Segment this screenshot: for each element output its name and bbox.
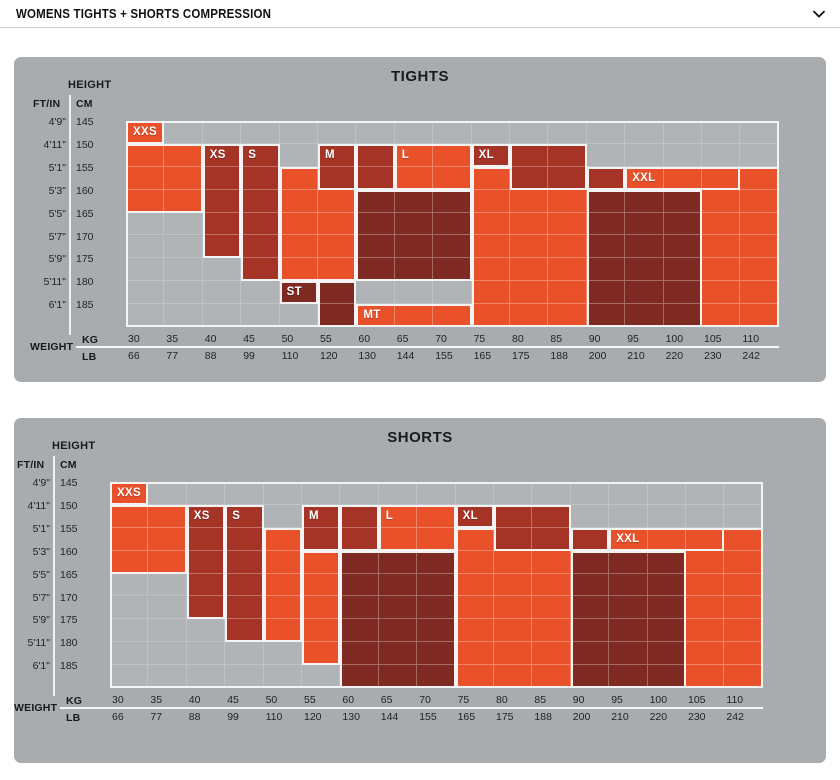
tights-lb-tick: 77 [166, 351, 178, 362]
grid-cell [203, 304, 241, 327]
tights-lb-tick: 144 [397, 351, 415, 362]
zone-segment [318, 167, 356, 190]
shorts-lb-tick: 66 [112, 712, 124, 723]
zone-segment [395, 144, 433, 167]
grid-cell [241, 304, 279, 327]
tights-kg-tick: 65 [397, 334, 409, 345]
size-zone [318, 281, 356, 327]
zone-segment [417, 665, 455, 688]
zone-segment [264, 574, 302, 597]
zone-segment [510, 144, 548, 167]
tights-kg-tick: 95 [627, 334, 639, 345]
zone-segment [187, 528, 225, 551]
zone-segment [433, 167, 471, 190]
tights-ftin-tick: 5'3" [26, 186, 66, 197]
grid-cell [280, 304, 318, 327]
zone-segment [417, 505, 455, 528]
shorts-cm-tick: 160 [60, 547, 78, 558]
zone-segment [648, 574, 686, 597]
zone-segment [148, 528, 186, 551]
zone-segment [571, 619, 609, 642]
grid-cell [241, 121, 279, 144]
tights-kg-tick: 50 [282, 334, 294, 345]
tights-cm-header: CM [76, 98, 93, 110]
zone-segment [340, 551, 378, 574]
shorts-kg-tick: 85 [534, 695, 546, 706]
size-zone-s: S [225, 505, 263, 642]
tights-lb-tick: 155 [435, 351, 453, 362]
size-zone-l: L [379, 505, 456, 551]
shorts-lb-tick: 77 [150, 712, 162, 723]
size-zone [340, 551, 455, 688]
grid-cell [686, 505, 724, 528]
zone-segment [510, 235, 548, 258]
grid-cell [379, 482, 417, 505]
shorts-height-header: HEIGHT [52, 440, 95, 452]
grid-cell [724, 505, 762, 528]
zone-segment [164, 167, 202, 190]
zone-segment [664, 281, 702, 304]
size-label-s: S [248, 149, 256, 161]
zone-segment [702, 213, 740, 236]
shorts-ftin-tick: 5'7" [10, 593, 50, 604]
grid-cell [302, 665, 340, 688]
size-zone-xs: XS [187, 505, 225, 620]
zone-segment [472, 167, 510, 190]
zone-segment [340, 528, 378, 551]
zone-segment [510, 258, 548, 281]
zone-segment [740, 167, 778, 190]
zone-segment [433, 190, 471, 213]
accordion-title: WOMENS TIGHTS + SHORTS COMPRESSION [16, 7, 271, 21]
grid-cell [164, 258, 202, 281]
zone-segment [571, 642, 609, 665]
size-label-xl: XL [479, 149, 494, 161]
grid-cell [148, 619, 186, 642]
size-zone-xxs: XXS [126, 121, 164, 144]
tights-cm-tick: 150 [76, 140, 94, 151]
tights-lb-tick: 110 [282, 351, 299, 362]
zone-segment [494, 551, 532, 574]
zone-segment [625, 190, 663, 213]
zone-segment [241, 190, 279, 213]
shorts-ftin-tick: 4'9" [10, 478, 50, 489]
size-zone-m: M [302, 505, 340, 551]
tights-kg-tick: 90 [589, 334, 601, 345]
shorts-cm-tick: 175 [60, 615, 78, 626]
shorts-kg-tick: 90 [573, 695, 585, 706]
tights-kg-tick: 60 [358, 334, 370, 345]
tights-lb-tick: 165 [474, 351, 492, 362]
size-label-mt: MT [363, 309, 380, 321]
zone-segment [302, 574, 340, 597]
grid-cell [318, 121, 356, 144]
grid-cell [110, 619, 148, 642]
tights-cm-tick: 145 [76, 117, 94, 128]
zone-segment [302, 528, 340, 551]
zone-segment [340, 505, 378, 528]
zone-segment [356, 235, 394, 258]
size-zone [571, 528, 609, 551]
zone-segment [340, 619, 378, 642]
grid-cell [664, 144, 702, 167]
grid-cell [187, 642, 225, 665]
zone-segment [548, 144, 586, 167]
size-zone-xl: XL [456, 505, 494, 528]
grid-cell [110, 574, 148, 597]
zone-segment [686, 642, 724, 665]
shorts-ftin-header: FT/IN [17, 459, 44, 471]
size-zone [356, 144, 394, 190]
tights-ftin-tick: 5'1" [26, 163, 66, 174]
zone-segment [548, 258, 586, 281]
grid-cell [494, 482, 532, 505]
zone-segment [702, 304, 740, 327]
shorts-kg-tick: 95 [611, 695, 623, 706]
zone-segment [609, 665, 647, 688]
grid-cell [264, 642, 302, 665]
shorts-lb-tick: 155 [419, 712, 437, 723]
grid-cell [625, 144, 663, 167]
zone-segment [686, 528, 724, 551]
zone-segment [548, 235, 586, 258]
size-zone [340, 505, 378, 551]
shorts-lb-tick: 220 [650, 712, 668, 723]
zone-segment [510, 304, 548, 327]
zone-segment [648, 619, 686, 642]
tights-lb-tick: 66 [128, 351, 140, 362]
zone-segment [571, 596, 609, 619]
zone-segment [225, 574, 263, 597]
zone-segment [724, 642, 762, 665]
shorts-kg-tick: 100 [650, 695, 668, 706]
grid-cell [395, 121, 433, 144]
zone-segment [280, 167, 318, 190]
zone-segment [110, 551, 148, 574]
zone-segment [587, 213, 625, 236]
tights-kg-tick: 80 [512, 334, 524, 345]
tights-lb-tick: 88 [205, 351, 217, 362]
tights-kg-tick: 75 [474, 334, 486, 345]
shorts-weight-divider [60, 707, 763, 709]
shorts-lb-header: LB [66, 712, 80, 724]
shorts-kg-tick: 30 [112, 695, 124, 706]
zone-segment [472, 304, 510, 327]
zone-segment [686, 665, 724, 688]
zone-segment [379, 665, 417, 688]
zone-segment [433, 235, 471, 258]
zone-segment [395, 235, 433, 258]
zone-segment [664, 167, 702, 190]
grid-cell [164, 121, 202, 144]
grid-cell [241, 281, 279, 304]
tights-lb-header: LB [82, 351, 96, 363]
tights-lb-tick: 120 [320, 351, 338, 362]
zone-segment [587, 304, 625, 327]
zone-segment [571, 551, 609, 574]
zone-segment [379, 574, 417, 597]
zone-segment [433, 213, 471, 236]
zone-segment [187, 596, 225, 619]
size-zone-mt: MT [356, 304, 471, 327]
grid-cell [225, 642, 263, 665]
zone-segment [203, 167, 241, 190]
zone-segment [510, 190, 548, 213]
zone-segment [494, 665, 532, 688]
shorts-ftin-tick: 5'5" [10, 570, 50, 581]
zone-segment [724, 574, 762, 597]
size-label-l: L [402, 149, 409, 161]
zone-segment [625, 258, 663, 281]
zone-segment [702, 235, 740, 258]
shorts-cm-tick: 185 [60, 661, 78, 672]
zone-segment [702, 258, 740, 281]
tights-ftin-tick: 5'5" [26, 209, 66, 220]
grid-cell [625, 121, 663, 144]
zone-segment [395, 167, 433, 190]
zone-segment [625, 304, 663, 327]
zone-segment [548, 190, 586, 213]
zone-segment [379, 596, 417, 619]
size-zone-xxs: XXS [110, 482, 148, 505]
tights-chart-title: TIGHTS [14, 68, 826, 85]
grid-cell [740, 144, 778, 167]
zone-segment [379, 619, 417, 642]
zone-segment [318, 144, 356, 167]
zone-segment [356, 190, 394, 213]
grid-cell [548, 121, 586, 144]
zone-segment [280, 213, 318, 236]
zone-segment [456, 596, 494, 619]
zone-segment [724, 596, 762, 619]
shorts-kg-tick: 35 [150, 695, 162, 706]
tights-weight-divider [76, 346, 779, 348]
zone-segment [225, 551, 263, 574]
tights-kg-tick: 85 [550, 334, 562, 345]
zone-segment [510, 213, 548, 236]
zone-segment [164, 190, 202, 213]
shorts-kg-tick: 45 [227, 695, 239, 706]
zone-segment [302, 619, 340, 642]
shorts-kg-tick: 70 [419, 695, 431, 706]
zone-segment [702, 167, 740, 190]
zone-segment [433, 258, 471, 281]
shorts-chart-title: SHORTS [14, 429, 826, 446]
tights-weight-header: WEIGHT [30, 341, 73, 353]
zone-segment [280, 235, 318, 258]
grid-cell [609, 505, 647, 528]
zone-segment [686, 551, 724, 574]
zone-segment [625, 213, 663, 236]
grid-cell [148, 574, 186, 597]
grid-cell [164, 281, 202, 304]
zone-segment [225, 619, 263, 642]
zone-segment [648, 642, 686, 665]
grid-cell [356, 121, 394, 144]
shorts-lb-tick: 242 [726, 712, 744, 723]
grid-cell [686, 482, 724, 505]
shorts-kg-tick: 75 [458, 695, 470, 706]
zone-segment [340, 665, 378, 688]
shorts-lb-tick: 200 [573, 712, 591, 723]
zone-segment [587, 258, 625, 281]
tights-lb-tick: 220 [666, 351, 684, 362]
size-zone [494, 505, 571, 551]
tights-cm-tick: 160 [76, 186, 94, 197]
zone-segment [417, 574, 455, 597]
shorts-ftin-tick: 5'11" [10, 638, 50, 649]
zone-segment [203, 190, 241, 213]
zone-segment [532, 642, 570, 665]
size-zone-st: ST [280, 281, 318, 304]
zone-segment [472, 213, 510, 236]
zone-segment [225, 505, 263, 528]
shorts-kg-tick: 50 [266, 695, 278, 706]
zone-segment [148, 551, 186, 574]
zone-segment [724, 619, 762, 642]
shorts-kg-tick: 65 [381, 695, 393, 706]
zone-segment [740, 213, 778, 236]
zone-segment [417, 551, 455, 574]
grid-cell [587, 121, 625, 144]
grid-cell [302, 482, 340, 505]
zone-segment [379, 642, 417, 665]
grid-cell [702, 121, 740, 144]
zone-segment [164, 144, 202, 167]
grid-cell [356, 281, 394, 304]
shorts-lb-tick: 230 [688, 712, 706, 723]
accordion-header[interactable]: WOMENS TIGHTS + SHORTS COMPRESSION [0, 0, 840, 28]
zone-segment [510, 281, 548, 304]
tights-cm-tick: 155 [76, 163, 94, 174]
tights-cm-tick: 185 [76, 300, 94, 311]
zone-segment [648, 551, 686, 574]
zone-segment [740, 235, 778, 258]
grid-cell [702, 144, 740, 167]
zone-segment [203, 235, 241, 258]
zone-segment [664, 190, 702, 213]
grid-cell [126, 281, 164, 304]
zone-segment [571, 528, 609, 551]
tights-ftin-tick: 5'9" [26, 254, 66, 265]
grid-cell [164, 236, 202, 259]
grid-cell [587, 144, 625, 167]
zone-segment [472, 190, 510, 213]
zone-segment [494, 574, 532, 597]
zone-segment [318, 304, 356, 327]
grid-cell [571, 505, 609, 528]
size-zone [587, 190, 702, 327]
tights-ftin-tick: 5'11" [26, 277, 66, 288]
grid-cell [148, 665, 186, 688]
chevron-down-icon[interactable] [812, 7, 826, 21]
shorts-cm-tick: 155 [60, 524, 78, 535]
size-label-xxs: XXS [133, 126, 157, 138]
shorts-ftin-tick: 5'1" [10, 524, 50, 535]
zone-segment [302, 551, 340, 574]
zone-segment [340, 642, 378, 665]
zone-segment [456, 528, 494, 551]
zone-segment [664, 235, 702, 258]
zone-segment [264, 619, 302, 642]
zone-segment [417, 528, 455, 551]
zone-segment [609, 551, 647, 574]
shorts-lb-tick: 120 [304, 712, 322, 723]
grid-cell [395, 281, 433, 304]
shorts-ftin-tick: 4'11" [10, 501, 50, 512]
grid-cell [148, 597, 186, 620]
grid-cell [724, 482, 762, 505]
zone-segment [203, 213, 241, 236]
grid-cell [664, 121, 702, 144]
grid-cell [164, 304, 202, 327]
shorts-kg-header: KG [66, 695, 82, 707]
shorts-lb-tick: 175 [496, 712, 514, 723]
zone-segment [740, 281, 778, 304]
tights-kg-tick: 70 [435, 334, 447, 345]
zone-segment [532, 619, 570, 642]
size-zone-s: S [241, 144, 279, 281]
zone-segment [356, 167, 394, 190]
size-zone [126, 144, 203, 213]
size-label-m: M [325, 149, 335, 161]
shorts-lb-tick: 210 [611, 712, 629, 723]
zone-segment [126, 167, 164, 190]
shorts-height-divider [53, 456, 55, 696]
zone-segment [571, 574, 609, 597]
shorts-cm-tick: 150 [60, 501, 78, 512]
shorts-lb-tick: 144 [381, 712, 399, 723]
tights-height-header: HEIGHT [68, 79, 111, 91]
zone-segment [318, 190, 356, 213]
zone-segment [587, 281, 625, 304]
grid-cell [510, 121, 548, 144]
zone-segment [587, 167, 625, 190]
zone-segment [548, 304, 586, 327]
zone-segment [494, 528, 532, 551]
grid-cell [110, 597, 148, 620]
size-label-l: L [386, 510, 393, 522]
grid-cell [456, 482, 494, 505]
shorts-cm-tick: 165 [60, 570, 78, 581]
tights-lb-tick: 188 [550, 351, 568, 362]
zone-segment [702, 281, 740, 304]
zone-segment [494, 505, 532, 528]
size-label-s: S [232, 510, 240, 522]
tights-ftin-header: FT/IN [33, 98, 60, 110]
size-zone-m: M [318, 144, 356, 190]
grid-cell [126, 236, 164, 259]
grid-cell [187, 619, 225, 642]
zone-segment [472, 281, 510, 304]
zone-segment [417, 642, 455, 665]
size-zone [571, 551, 686, 688]
tights-ftin-tick: 4'11" [26, 140, 66, 151]
zone-segment [110, 505, 148, 528]
zone-segment [417, 596, 455, 619]
zone-segment [625, 281, 663, 304]
zone-segment [264, 596, 302, 619]
zone-segment [225, 596, 263, 619]
size-label-xxs: XXS [117, 487, 141, 499]
zone-segment [456, 551, 494, 574]
zone-segment [724, 528, 762, 551]
zone-segment [548, 213, 586, 236]
size-label-xxl: XXL [632, 172, 655, 184]
zone-segment [548, 281, 586, 304]
size-zone [356, 190, 471, 282]
size-label-m: M [309, 510, 319, 522]
